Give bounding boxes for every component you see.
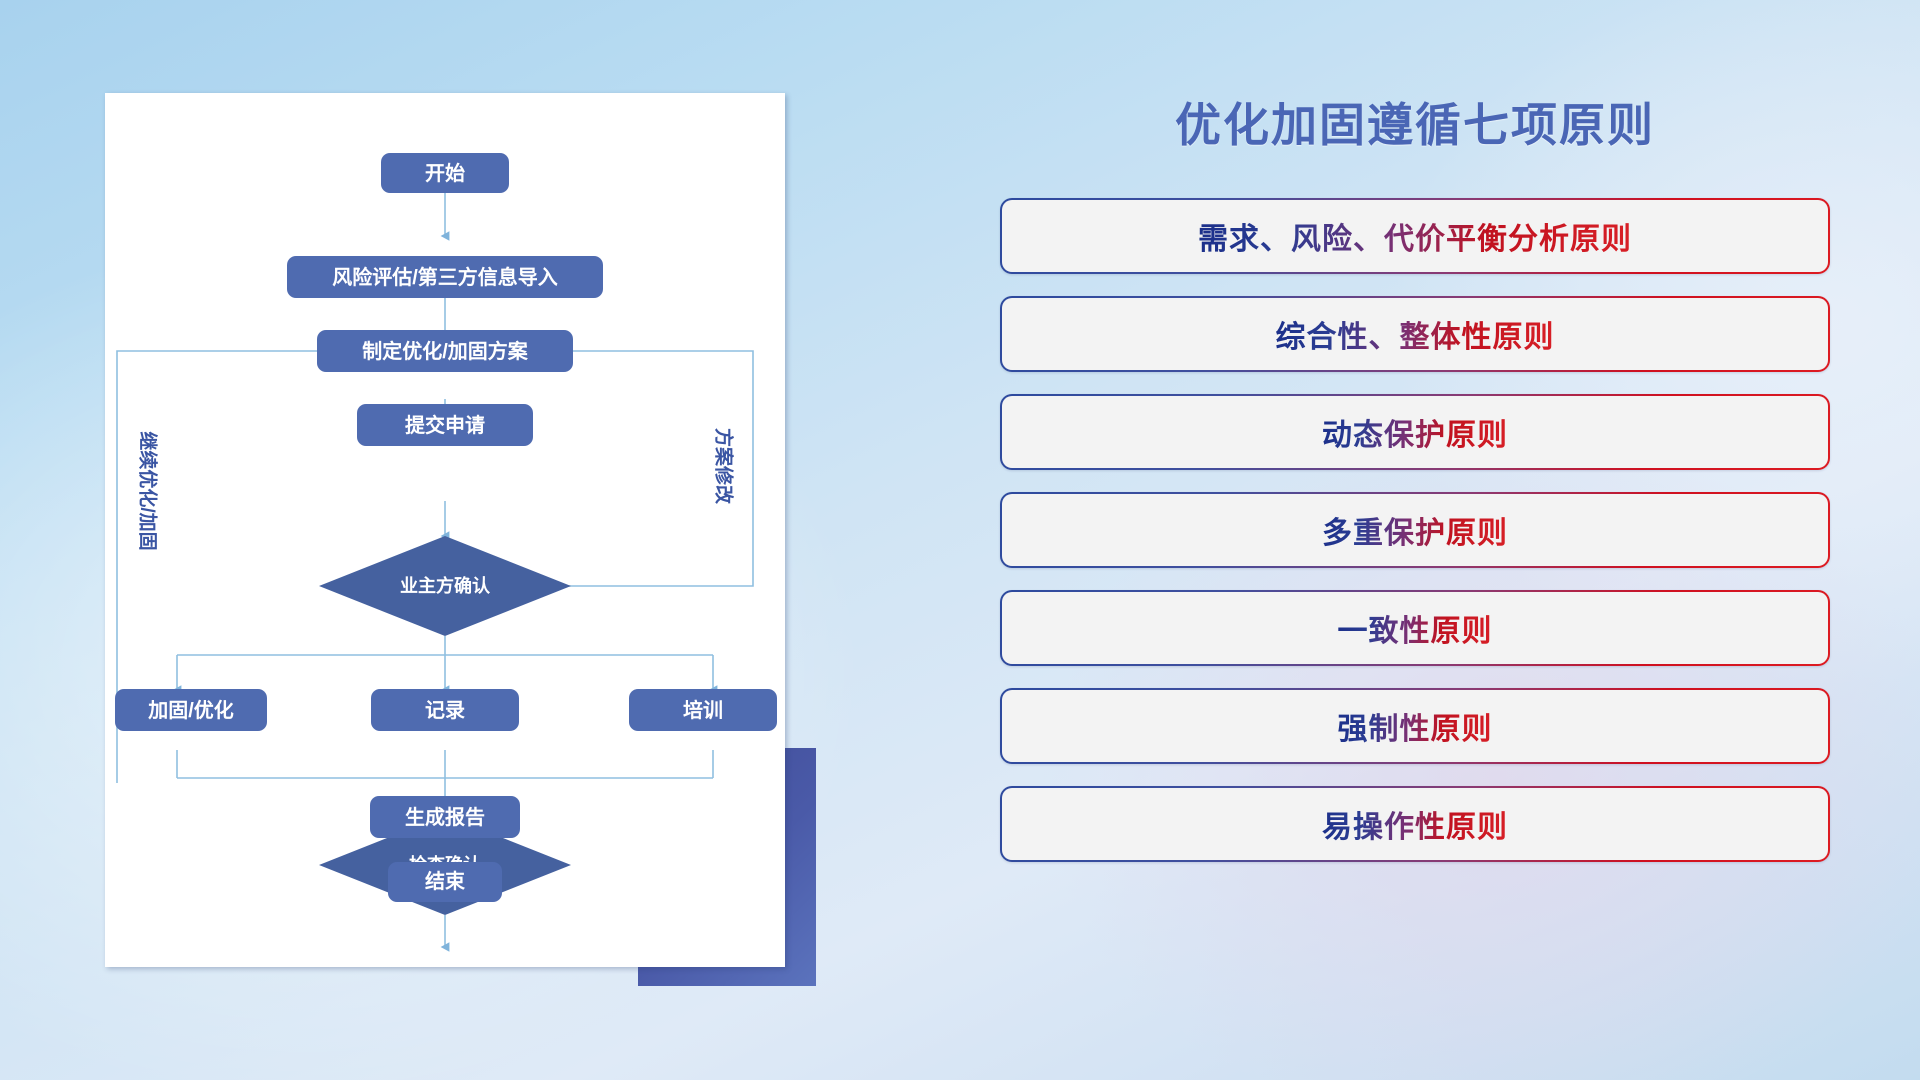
page-title: 优化加固遵循七项原则 <box>1000 96 1830 154</box>
flowchart-diagram: 开始 风险评估/第三方信息导入 制定优化/加固方案 提交申请 业主方确认 加固/ <box>105 93 785 967</box>
node-submit[interactable]: 提交申请 <box>357 404 533 446</box>
principle-label: 一致性原则 <box>1338 606 1493 650</box>
principle-card[interactable]: 动态保护原则 <box>1000 394 1830 470</box>
principles-panel: 优化加固遵循七项原则 需求、风险、代价平衡分析原则 综合性、整体性原则 动态保护… <box>1000 96 1830 996</box>
node-plan[interactable]: 制定优化/加固方案 <box>317 330 573 372</box>
principle-label: 多重保护原则 <box>1322 508 1508 552</box>
principle-card[interactable]: 需求、风险、代价平衡分析原则 <box>1000 198 1830 274</box>
principle-card[interactable]: 强制性原则 <box>1000 688 1830 764</box>
node-report[interactable]: 生成报告 <box>370 796 520 838</box>
node-start-label: 开始 <box>425 161 465 185</box>
node-risk-assessment[interactable]: 风险评估/第三方信息导入 <box>287 256 603 298</box>
node-risk-assessment-label: 风险评估/第三方信息导入 <box>332 265 558 289</box>
node-training[interactable]: 培训 <box>629 689 777 731</box>
principle-label: 强制性原则 <box>1338 704 1493 748</box>
label-revise-plan: 方案修改 <box>713 428 736 505</box>
node-owner-confirm-label: 业主方确认 <box>400 575 491 596</box>
principle-card[interactable]: 综合性、整体性原则 <box>1000 296 1830 372</box>
node-end-label: 结束 <box>425 869 466 893</box>
node-start[interactable]: 开始 <box>381 153 509 193</box>
principle-list: 需求、风险、代价平衡分析原则 综合性、整体性原则 动态保护原则 多重保护原则 一… <box>1000 198 1830 862</box>
node-record-label: 记录 <box>425 699 465 722</box>
node-training-label: 培训 <box>683 698 723 722</box>
node-reinforce-label: 加固/优化 <box>147 698 234 722</box>
flowchart-card: 开始 风险评估/第三方信息导入 制定优化/加固方案 提交申请 业主方确认 加固/ <box>105 93 785 967</box>
principle-card[interactable]: 多重保护原则 <box>1000 492 1830 568</box>
label-continue-optimize: 继续优化/加固 <box>137 431 160 550</box>
node-plan-label: 制定优化/加固方案 <box>362 339 529 363</box>
node-reinforce[interactable]: 加固/优化 <box>115 689 267 731</box>
principle-card[interactable]: 一致性原则 <box>1000 590 1830 666</box>
principle-label: 易操作性原则 <box>1322 802 1508 846</box>
node-owner-confirm[interactable]: 业主方确认 <box>319 536 571 636</box>
node-end[interactable]: 结束 <box>388 862 502 902</box>
node-record[interactable]: 记录 <box>371 689 519 731</box>
principle-label: 需求、风险、代价平衡分析原则 <box>1198 214 1632 258</box>
node-report-label: 生成报告 <box>405 805 485 829</box>
principle-label: 动态保护原则 <box>1322 410 1508 454</box>
node-submit-label: 提交申请 <box>405 413 485 437</box>
principle-label: 综合性、整体性原则 <box>1276 312 1555 356</box>
principle-card[interactable]: 易操作性原则 <box>1000 786 1830 862</box>
slide-canvas: 开始 风险评估/第三方信息导入 制定优化/加固方案 提交申请 业主方确认 加固/ <box>0 0 1920 1080</box>
